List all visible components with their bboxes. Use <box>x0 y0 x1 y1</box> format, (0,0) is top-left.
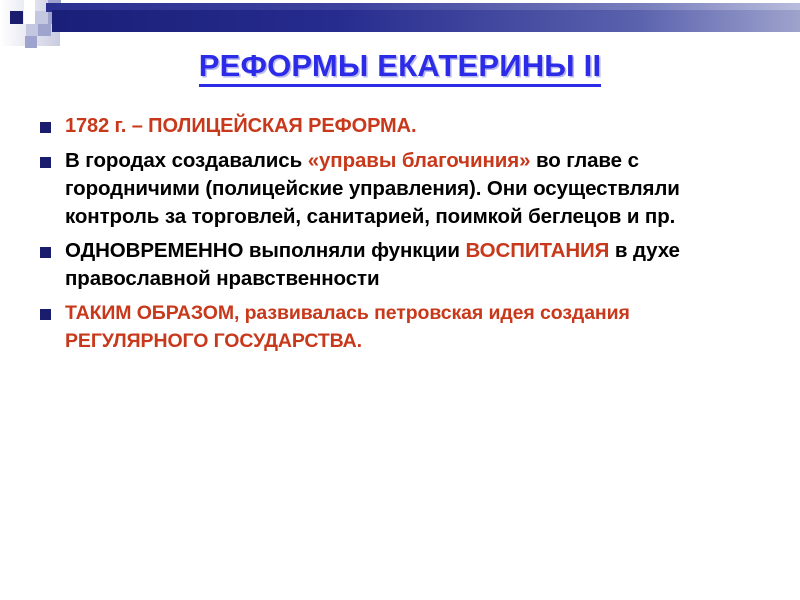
bullet-3-seg-1: ВОСПИТАНИЯ <box>465 239 609 262</box>
bullet-2-seg-0: В городах создавались <box>65 149 308 172</box>
bullet-regular-state: ТАКИМ ОБРАЗОМ, развивалась петровская ид… <box>40 299 770 355</box>
header-decoration <box>0 0 800 46</box>
deco-square-mid-b <box>38 24 51 36</box>
page-title-text: РЕФОРМЫ ЕКАТЕРИНЫ II <box>199 48 602 87</box>
bullet-police-reform: 1782 г. – ПОЛИЦЕЙСКАЯ РЕФОРМА. <box>40 112 770 140</box>
bullet-police-reform-text: 1782 г. – ПОЛИЦЕЙСКАЯ РЕФОРМА. <box>65 112 770 140</box>
bullet-uprava-blagochiniya-text: В городах создавались «управы благочиния… <box>65 147 770 231</box>
square-bullet-icon <box>40 247 51 258</box>
bullet-3-seg-0: ОДНОВРЕМЕННО выполняли функции <box>65 239 465 262</box>
slide-body: 1782 г. – ПОЛИЦЕЙСКАЯ РЕФОРМА. В городах… <box>40 112 770 357</box>
deco-square-navy-small <box>10 11 23 24</box>
bullet-2-seg-1: «управы благочиния» <box>308 149 531 172</box>
bullet-vospitanie: ОДНОВРЕМЕННО выполняли функции ВОСПИТАНИ… <box>40 237 770 293</box>
square-bullet-icon <box>40 122 51 133</box>
header-bar-main <box>52 10 800 32</box>
square-bullet-icon <box>40 157 51 168</box>
page-title: РЕФОРМЫ ЕКАТЕРИНЫ II <box>0 48 800 84</box>
deco-square-light-a <box>35 11 48 24</box>
deco-square-white-a <box>24 0 35 24</box>
bullet-uprava-blagochiniya: В городах создавались «управы благочиния… <box>40 147 770 231</box>
bullet-4-seg-0: ТАКИМ ОБРАЗОМ, развивалась петровская ид… <box>65 302 630 352</box>
bullet-vospitanie-text: ОДНОВРЕМЕННО выполняли функции ВОСПИТАНИ… <box>65 237 770 293</box>
deco-square-mid-c <box>25 36 37 48</box>
bullet-1-seg-0: 1782 г. – ПОЛИЦЕЙСКАЯ РЕФОРМА. <box>65 115 416 137</box>
deco-square-light-b <box>26 24 38 36</box>
square-bullet-icon <box>40 309 51 320</box>
bullet-regular-state-text: ТАКИМ ОБРАЗОМ, развивалась петровская ид… <box>65 299 770 355</box>
